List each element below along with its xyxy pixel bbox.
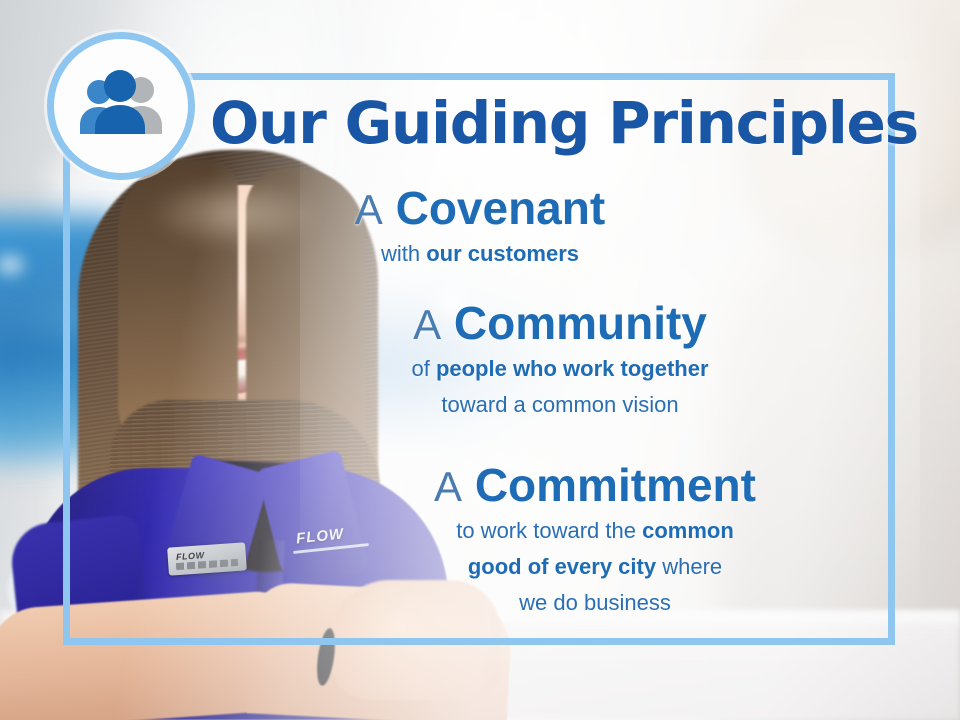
subline-part: toward a common vision xyxy=(441,392,678,417)
principle-subline: good of every city where xyxy=(300,552,890,582)
subline-part: to work toward the xyxy=(456,518,642,543)
principle-headline: A Community xyxy=(250,300,870,348)
subline-part-strong: common xyxy=(642,518,734,543)
principle-article: A xyxy=(413,301,441,348)
principle-block-covenant: A Covenant with our customers xyxy=(200,185,760,269)
subline-part: where xyxy=(656,554,722,579)
poster-canvas: FLOW FLOW Our Guiding Principles xyxy=(0,0,960,720)
principle-block-community: A Community of people who work together … xyxy=(250,300,870,420)
principle-keyword: Commitment xyxy=(475,459,756,511)
subline-part-strong: our customers xyxy=(426,241,579,266)
subline-part-strong: people who work together xyxy=(436,356,709,381)
subline-part: with xyxy=(381,241,426,266)
subline-part: we do business xyxy=(519,590,671,615)
principle-subline: with our customers xyxy=(200,239,760,269)
people-group-icon xyxy=(47,32,195,180)
principle-keyword: Community xyxy=(454,297,707,349)
page-title: Our Guiding Principles xyxy=(210,94,870,152)
principle-keyword: Covenant xyxy=(396,182,606,234)
principle-subline: of people who work together xyxy=(250,354,870,384)
principle-headline: A Commitment xyxy=(300,462,890,510)
subline-part-strong: good of every city xyxy=(468,554,656,579)
principle-subline: to work toward the common xyxy=(300,516,890,546)
principle-article: A xyxy=(434,463,462,510)
principle-article: A xyxy=(355,186,383,233)
principle-block-commitment: A Commitment to work toward the common g… xyxy=(300,462,890,618)
subline-part: of xyxy=(411,356,435,381)
principle-headline: A Covenant xyxy=(200,185,760,233)
principle-subline: we do business xyxy=(300,588,890,618)
principle-subline: toward a common vision xyxy=(250,390,870,420)
